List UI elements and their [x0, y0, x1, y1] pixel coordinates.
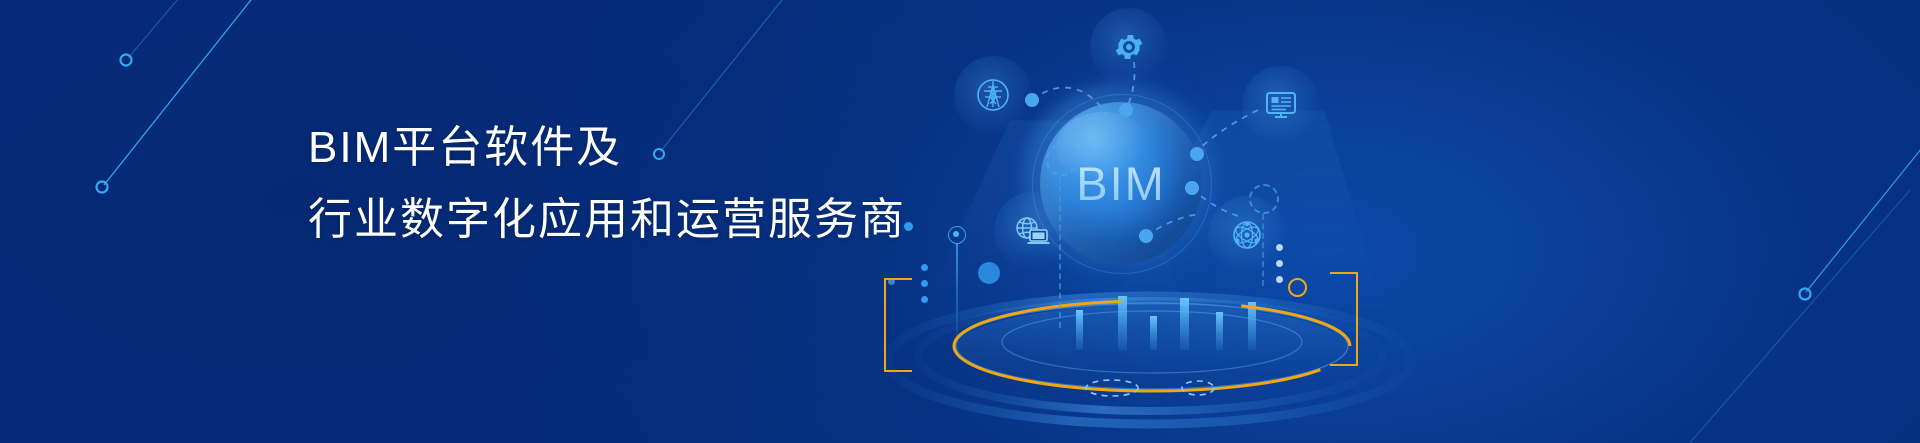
gear-icon: [1112, 30, 1146, 64]
hero-banner: BIM平台软件及 行业数字化应用和运营服务商: [0, 0, 1920, 443]
dot: [1276, 244, 1283, 251]
bim-illustration: BIM: [860, 0, 1420, 443]
pin-head-icon: [948, 226, 966, 244]
dot: [921, 264, 928, 271]
orange-ring-icon: [1288, 278, 1307, 297]
monitor-icon: [1262, 86, 1300, 124]
dot: [921, 296, 928, 303]
headline: BIM平台软件及 行业数字化应用和运营服务商: [308, 112, 928, 256]
node-monitor[interactable]: [1242, 66, 1320, 144]
dashed-circle-icon: [1046, 144, 1078, 176]
dot: [921, 280, 928, 287]
ground-pin: [956, 244, 958, 336]
headline-line-1: BIM平台软件及: [308, 112, 928, 184]
dot: [1276, 260, 1283, 267]
accent-dot-large: [978, 262, 1000, 284]
power-tower-icon: [971, 73, 1015, 117]
accent-dot-small: [904, 222, 913, 231]
node-gear[interactable]: [1090, 8, 1168, 86]
headline-line-2: 行业数字化应用和运营服务商: [308, 184, 928, 256]
dot-column-right: [1276, 244, 1283, 292]
node-tower[interactable]: [954, 56, 1032, 134]
dot-column-left: [921, 264, 928, 312]
globe-laptop-icon: [1012, 212, 1054, 250]
dashed-circle-icon: [1249, 184, 1279, 214]
dashed-pole-left: [1059, 176, 1061, 328]
dot: [1276, 276, 1283, 283]
bracket-left: [884, 278, 912, 372]
dashed-pole-right: [1262, 214, 1264, 286]
network-icon: [1227, 215, 1267, 255]
